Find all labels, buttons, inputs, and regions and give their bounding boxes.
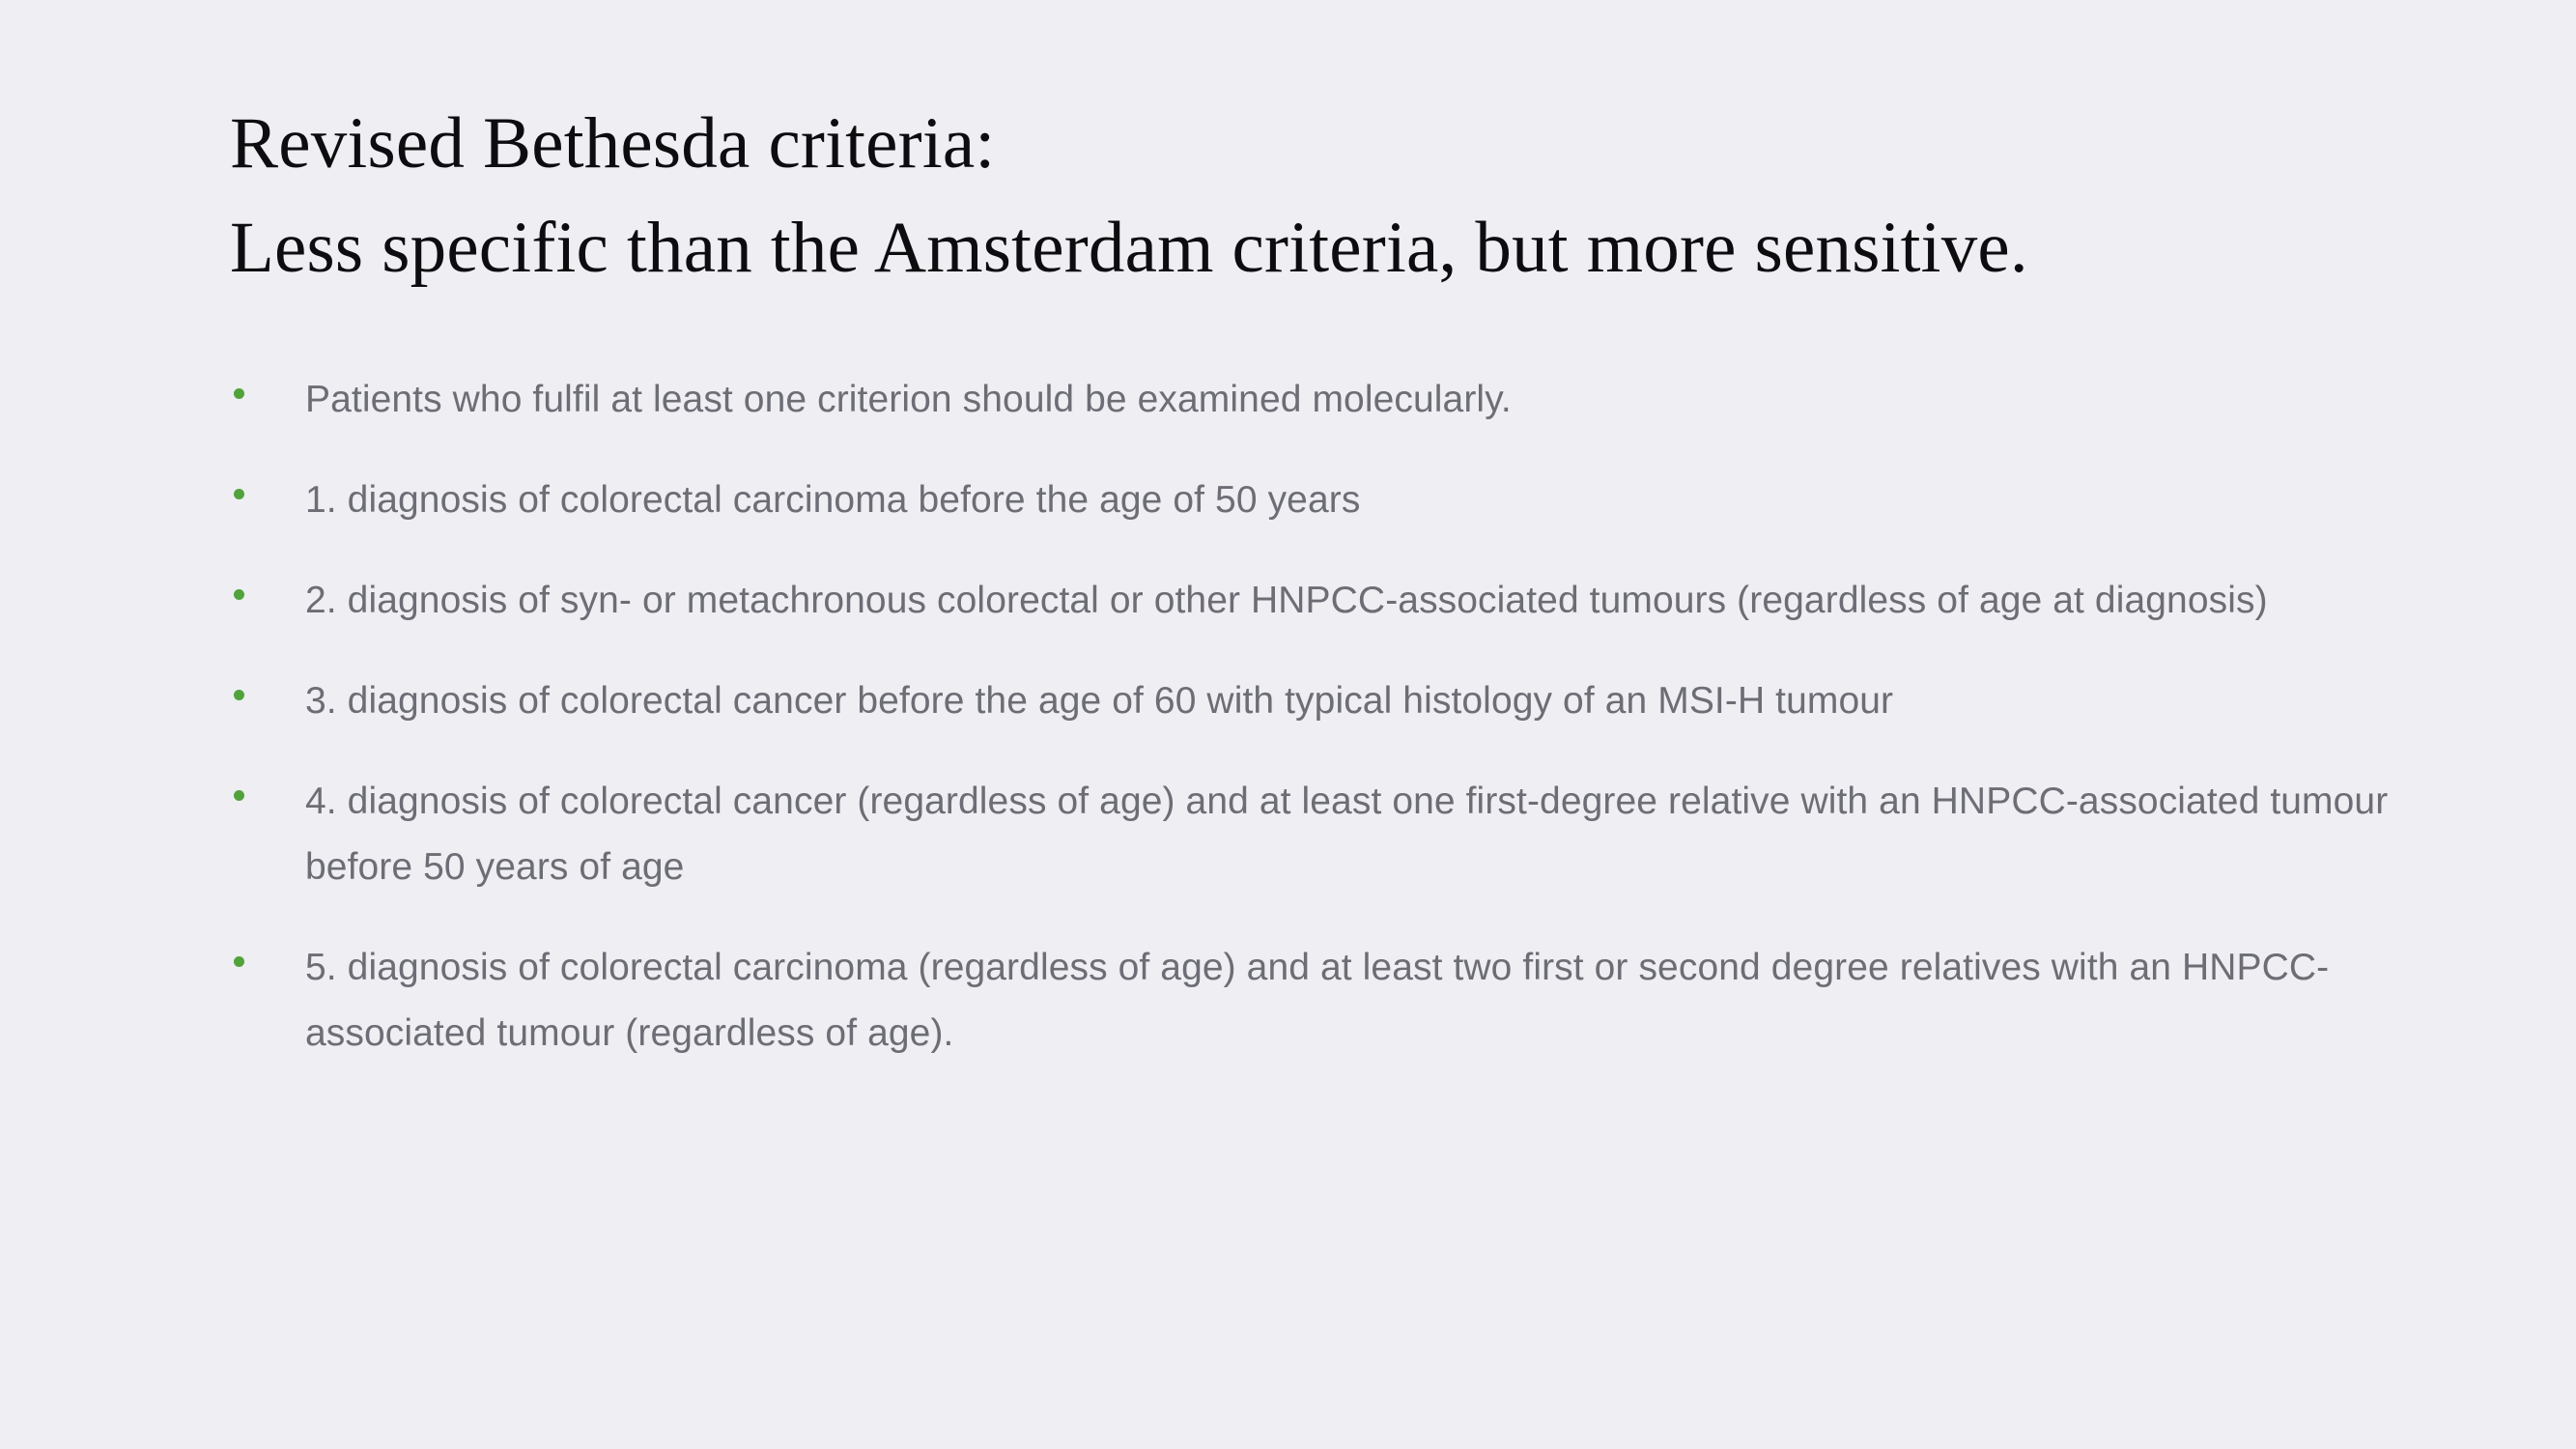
- list-item-label: 5. diagnosis of colorectal carcinoma (re…: [305, 935, 2382, 1066]
- slide-canvas: Revised Bethesda criteria: Less specific…: [0, 0, 2576, 1449]
- page-title-line-1: Revised Bethesda criteria:: [230, 92, 2413, 196]
- slide-title: Revised Bethesda criteria: Less specific…: [230, 92, 2413, 300]
- list-item: 3. diagnosis of colorectal cancer before…: [220, 668, 2403, 734]
- list-item: 1. diagnosis of colorectal carcinoma bef…: [220, 468, 2403, 533]
- list-item-label: 1. diagnosis of colorectal carcinoma bef…: [305, 468, 2382, 533]
- green-dot-bullet-icon: [234, 388, 244, 399]
- list-item: 4. diagnosis of colorectal cancer (regar…: [220, 769, 2403, 900]
- green-dot-bullet-icon: [234, 489, 244, 499]
- green-dot-bullet-icon: [234, 690, 244, 700]
- page-title-line-2: Less specific than the Amsterdam criteri…: [230, 196, 2413, 300]
- list-item-label: Patients who fulfil at least one criteri…: [305, 367, 2382, 433]
- green-dot-bullet-icon: [234, 589, 244, 600]
- list-item: Patients who fulfil at least one criteri…: [220, 367, 2403, 433]
- list-item: 5. diagnosis of colorectal carcinoma (re…: [220, 935, 2403, 1066]
- list-item: 2. diagnosis of syn- or metachronous col…: [220, 568, 2403, 634]
- list-item-label: 2. diagnosis of syn- or metachronous col…: [305, 568, 2403, 634]
- list-item-label: 4. diagnosis of colorectal cancer (regar…: [305, 769, 2403, 900]
- green-dot-bullet-icon: [234, 790, 244, 801]
- list-item-label: 3. diagnosis of colorectal cancer before…: [305, 668, 2382, 734]
- criteria-list: Patients who fulfil at least one criteri…: [220, 367, 2403, 1066]
- green-dot-bullet-icon: [234, 956, 244, 967]
